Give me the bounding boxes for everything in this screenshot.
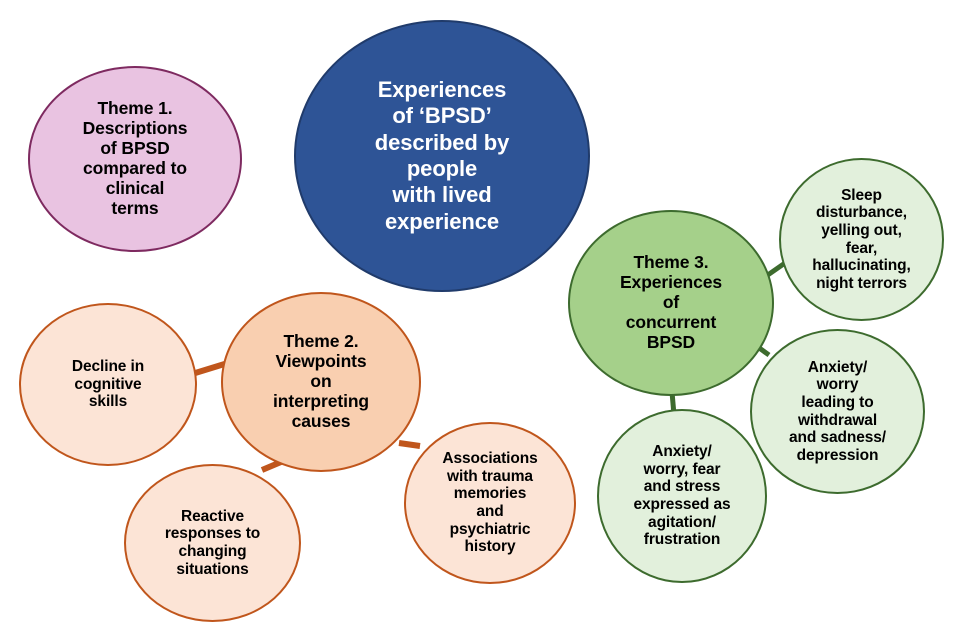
bubble-reactive-responses-label: Reactive responses to changing situation… (159, 508, 266, 579)
bubble-sleep-disturbance-label: Sleep disturbance, yelling out, fear, ha… (806, 187, 917, 293)
bubble-theme-1[interactable]: Theme 1. Descriptions of BPSD compared t… (28, 66, 242, 252)
bubble-theme-1-label: Theme 1. Descriptions of BPSD compared t… (77, 99, 194, 219)
bubble-theme-2-label: Theme 2. Viewpoints on interpreting caus… (267, 332, 375, 432)
bubble-anxiety-withdrawal-label: Anxiety/ worry leading to withdrawal and… (783, 359, 892, 465)
bubble-anxiety-agitation[interactable]: Anxiety/ worry, fear and stress expresse… (597, 409, 767, 583)
bubble-decline-cognitive-skills-label: Decline in cognitive skills (66, 358, 150, 411)
bubble-anxiety-agitation-label: Anxiety/ worry, fear and stress expresse… (627, 443, 736, 549)
bubble-theme-2[interactable]: Theme 2. Viewpoints on interpreting caus… (221, 292, 421, 472)
diagram-canvas: Theme 1. Descriptions of BPSD compared t… (0, 0, 957, 626)
bubble-central-topic[interactable]: Experiences of ‘BPSD’ described by peopl… (294, 20, 590, 292)
connector-trauma-theme2 (399, 443, 420, 446)
bubble-decline-cognitive-skills[interactable]: Decline in cognitive skills (19, 303, 197, 466)
bubble-reactive-responses[interactable]: Reactive responses to changing situation… (124, 464, 301, 622)
bubble-theme-3-label: Theme 3. Experiences of concurrent BPSD (614, 253, 728, 353)
bubble-trauma-memories-label: Associations with trauma memories and ps… (436, 450, 543, 556)
bubble-sleep-disturbance[interactable]: Sleep disturbance, yelling out, fear, ha… (779, 158, 944, 321)
bubble-anxiety-withdrawal[interactable]: Anxiety/ worry leading to withdrawal and… (750, 329, 925, 494)
bubble-central-topic-label: Experiences of ‘BPSD’ described by peopl… (369, 77, 516, 235)
bubble-theme-3[interactable]: Theme 3. Experiences of concurrent BPSD (568, 210, 774, 396)
bubble-trauma-memories[interactable]: Associations with trauma memories and ps… (404, 422, 576, 584)
